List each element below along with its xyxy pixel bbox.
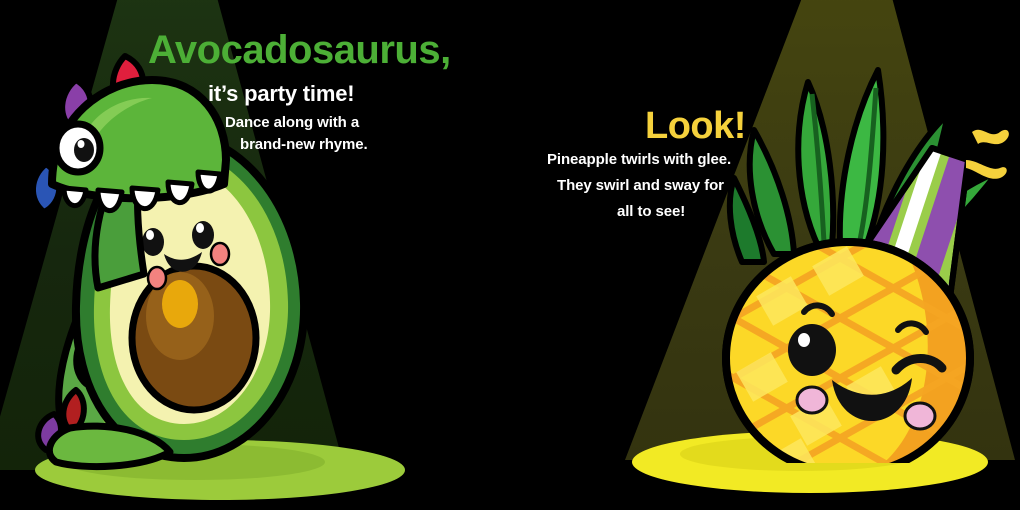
blush-right xyxy=(905,403,935,429)
book-spread: Avocadosaurus, it’s party time! Dance al… xyxy=(0,0,1020,510)
blush-right xyxy=(211,243,229,265)
blush-left xyxy=(148,267,166,289)
right-page-body-line-1: Pineapple twirls with glee. xyxy=(547,151,731,168)
confetti-streamer-2 xyxy=(966,160,1007,179)
left-page-subtitle: it’s party time! xyxy=(208,81,354,107)
blush-left xyxy=(797,387,827,413)
left-page-title: Avocadosaurus, xyxy=(148,28,451,73)
right-page-body-line-2: They swirl and sway for xyxy=(557,177,724,194)
pineapple-character xyxy=(700,48,1020,463)
confetti-streamer-1 xyxy=(972,130,1009,144)
right-page-title: Look! xyxy=(645,105,746,148)
left-page-body-line-1: Dance along with a xyxy=(225,114,359,131)
confetti xyxy=(966,130,1009,179)
right-page-body-line-3: all to see! xyxy=(617,203,685,220)
avocado-pit xyxy=(132,266,256,410)
eye-open xyxy=(788,324,836,376)
left-page-body-line-2: brand-new rhyme. xyxy=(240,136,368,153)
hood-eye xyxy=(56,124,100,172)
